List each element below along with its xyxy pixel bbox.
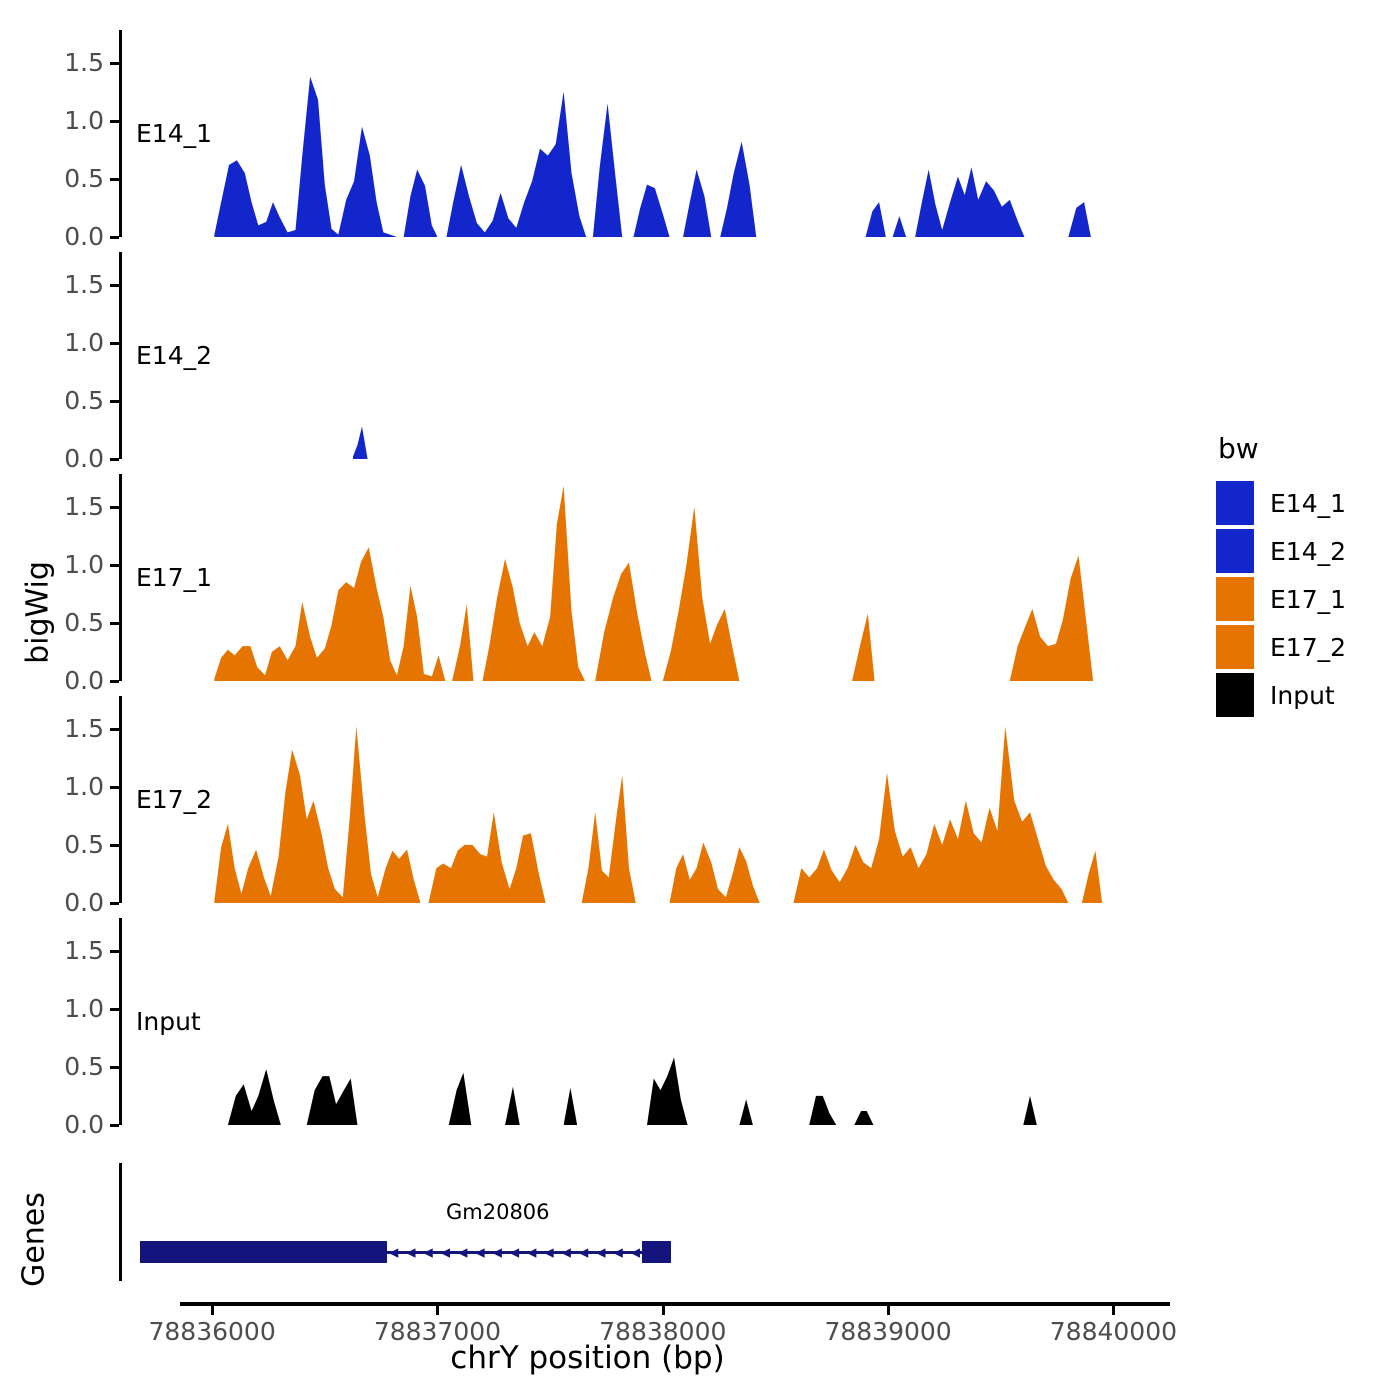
signal-area-e14_1 bbox=[0, 30, 1175, 237]
signal-segment bbox=[214, 726, 420, 903]
legend-item-e17_2[interactable]: E17_2 bbox=[1216, 623, 1396, 671]
legend-item-e17_1[interactable]: E17_1 bbox=[1216, 575, 1396, 623]
gene-strand-arrow-icon: ◂ bbox=[561, 1243, 571, 1262]
signal-segment bbox=[214, 547, 445, 681]
signal-area-e14_2 bbox=[0, 252, 1175, 459]
gene-strand-arrow-icon: ◂ bbox=[389, 1243, 399, 1262]
legend-items: E14_1E14_2E17_1E17_2Input bbox=[1216, 479, 1396, 719]
signal-area-e17_1 bbox=[0, 474, 1175, 681]
gene-strand-arrow-icon: ◂ bbox=[613, 1243, 623, 1262]
x-tick bbox=[662, 1306, 665, 1315]
signal-segment bbox=[1068, 202, 1091, 237]
track-panel-e14_1: 1.51.00.50.0E14_1 bbox=[0, 30, 1175, 237]
signal-segment bbox=[739, 1099, 753, 1125]
signal-segment bbox=[449, 1073, 472, 1125]
signal-segment bbox=[809, 1096, 836, 1125]
gene-strand-arrow-icon: ◂ bbox=[579, 1243, 589, 1262]
legend-label: E14_2 bbox=[1270, 537, 1346, 566]
legend: bw E14_1E14_2E17_1E17_2Input bbox=[1216, 432, 1396, 719]
gene-strand-arrow-icon: ◂ bbox=[544, 1243, 554, 1262]
track-panel-e14_2: 1.51.00.50.0E14_2 bbox=[0, 252, 1175, 459]
signal-area-e17_2 bbox=[0, 696, 1175, 903]
signal-segment bbox=[854, 1111, 873, 1125]
legend-swatch bbox=[1216, 673, 1254, 717]
signal-segment bbox=[866, 202, 886, 237]
gene-strand-arrow-icon: ◂ bbox=[458, 1243, 468, 1262]
signal-segment bbox=[1082, 851, 1102, 903]
gene-label: Gm20806 bbox=[446, 1200, 550, 1224]
signal-segment bbox=[595, 562, 651, 681]
gene-strand-arrow-icon: ◂ bbox=[492, 1243, 502, 1262]
signal-segment bbox=[564, 1088, 578, 1125]
legend-item-e14_2[interactable]: E14_2 bbox=[1216, 527, 1396, 575]
x-tick bbox=[211, 1306, 214, 1315]
signal-segment bbox=[582, 775, 636, 903]
signal-segment bbox=[893, 216, 907, 237]
track-panel-e17_1: 1.51.00.50.0E17_1 bbox=[0, 474, 1175, 681]
signal-segment bbox=[633, 185, 669, 237]
signal-segment bbox=[505, 1087, 520, 1125]
x-tick bbox=[1112, 1306, 1115, 1315]
legend-label: E17_1 bbox=[1270, 585, 1346, 614]
signal-segment bbox=[428, 812, 545, 903]
genes-axis-spine bbox=[119, 1163, 122, 1281]
gene-strand-arrow-icon: ◂ bbox=[630, 1243, 640, 1262]
legend-swatch bbox=[1216, 625, 1254, 669]
gene-strand-arrow-icon: ◂ bbox=[510, 1243, 520, 1262]
signal-segment bbox=[452, 604, 473, 681]
legend-swatch bbox=[1216, 481, 1254, 525]
signal-segment bbox=[404, 170, 438, 237]
x-axis-title: chrY position (bp) bbox=[0, 1340, 1175, 1376]
signal-segment bbox=[793, 726, 1068, 903]
signal-segment bbox=[647, 1058, 688, 1125]
signal-segment bbox=[852, 614, 875, 681]
signal-segment bbox=[683, 170, 711, 237]
signal-segment bbox=[228, 1069, 281, 1125]
signal-segment bbox=[593, 103, 622, 237]
gene-exon bbox=[642, 1241, 670, 1263]
gene-strand-arrow-icon: ◂ bbox=[406, 1243, 416, 1262]
genes-panel bbox=[0, 1163, 1175, 1288]
gene-strand-arrow-icon: ◂ bbox=[596, 1243, 606, 1262]
legend-label: E17_2 bbox=[1270, 633, 1346, 662]
x-tick bbox=[887, 1306, 890, 1315]
legend-swatch bbox=[1216, 529, 1254, 573]
gene-strand-arrow-icon: ◂ bbox=[423, 1243, 433, 1262]
legend-swatch bbox=[1216, 577, 1254, 621]
track-panel-e17_2: 1.51.00.50.0E17_2 bbox=[0, 696, 1175, 903]
legend-label: E14_1 bbox=[1270, 489, 1346, 518]
legend-item-input[interactable]: Input bbox=[1216, 671, 1396, 719]
signal-segment bbox=[483, 486, 586, 681]
signal-area-input bbox=[0, 918, 1175, 1125]
track-panel-input: 1.51.00.50.0Input bbox=[0, 918, 1175, 1125]
x-tick bbox=[436, 1306, 439, 1315]
signal-segment bbox=[1010, 555, 1093, 681]
signal-segment bbox=[915, 167, 1024, 237]
gene-exon bbox=[140, 1241, 387, 1263]
signal-segment bbox=[446, 92, 586, 237]
signal-segment bbox=[214, 77, 397, 237]
x-axis-line bbox=[180, 1302, 1170, 1306]
legend-item-e14_1[interactable]: E14_1 bbox=[1216, 479, 1396, 527]
gene-strand-arrow-icon: ◂ bbox=[527, 1243, 537, 1262]
legend-label: Input bbox=[1270, 681, 1335, 710]
signal-segment bbox=[1023, 1096, 1037, 1125]
signal-segment bbox=[720, 142, 756, 237]
legend-title: bw bbox=[1218, 432, 1396, 465]
signal-segment bbox=[353, 426, 368, 459]
gene-strand-arrow-icon: ◂ bbox=[441, 1243, 451, 1262]
signal-segment bbox=[663, 507, 740, 681]
signal-segment bbox=[670, 843, 760, 903]
signal-segment bbox=[307, 1076, 358, 1125]
gene-strand-arrow-icon: ◂ bbox=[475, 1243, 485, 1262]
